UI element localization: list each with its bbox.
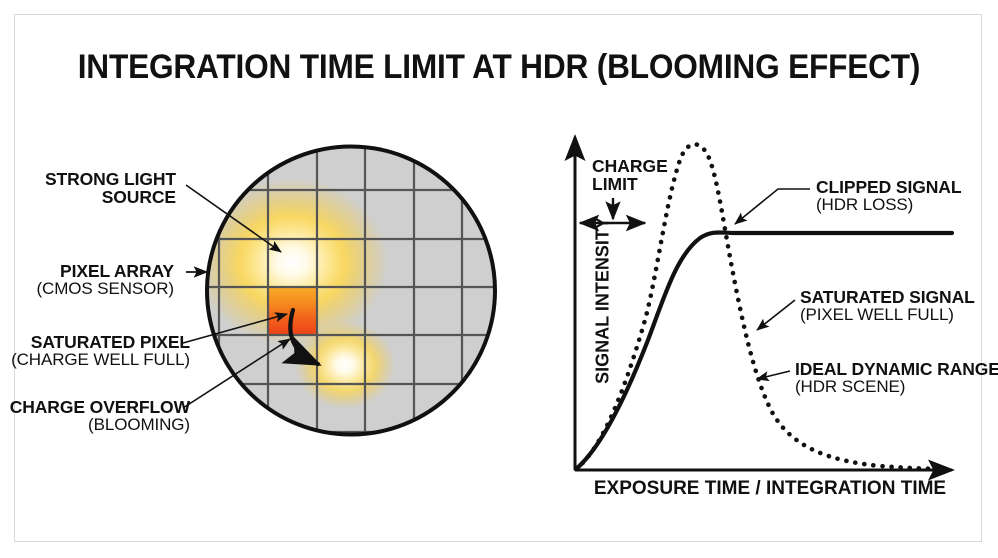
- label-clipped-signal: CLIPPED SIGNAL (HDR LOSS): [816, 178, 961, 214]
- x-axis-label: EXPOSURE TIME / INTEGRATION TIME: [560, 478, 980, 500]
- leader-saturated-signal: [757, 300, 795, 330]
- leader-ideal-dynamic-range: [757, 371, 790, 379]
- y-axis-label: SIGNAL INTENSITY: [593, 191, 614, 411]
- label-strong-light-source: STRONG LIGHT SOURCE: [45, 170, 176, 206]
- leader-clipped-signal: [735, 189, 810, 224]
- label-charge-limit: CHARGE LIMIT: [592, 157, 668, 194]
- label-saturated-signal: SATURATED SIGNAL (PIXEL WELL FULL): [800, 288, 975, 324]
- sensor-illustration: [183, 143, 495, 435]
- label-pixel-array: PIXEL ARRAY (CMOS SENSOR): [36, 262, 174, 298]
- label-ideal-dynamic-range: IDEAL DYNAMIC RANGE (HDR SCENE): [795, 360, 998, 396]
- saturated-signal-curve: [576, 232, 952, 469]
- label-charge-overflow: CHARGE OVERFLOW (BLOOMING): [10, 398, 190, 434]
- label-saturated-pixel: SATURATED PIXEL (CHARGE WELL FULL): [11, 333, 190, 369]
- diagram-page: INTEGRATION TIME LIMIT AT HDR (BLOOMING …: [0, 0, 998, 558]
